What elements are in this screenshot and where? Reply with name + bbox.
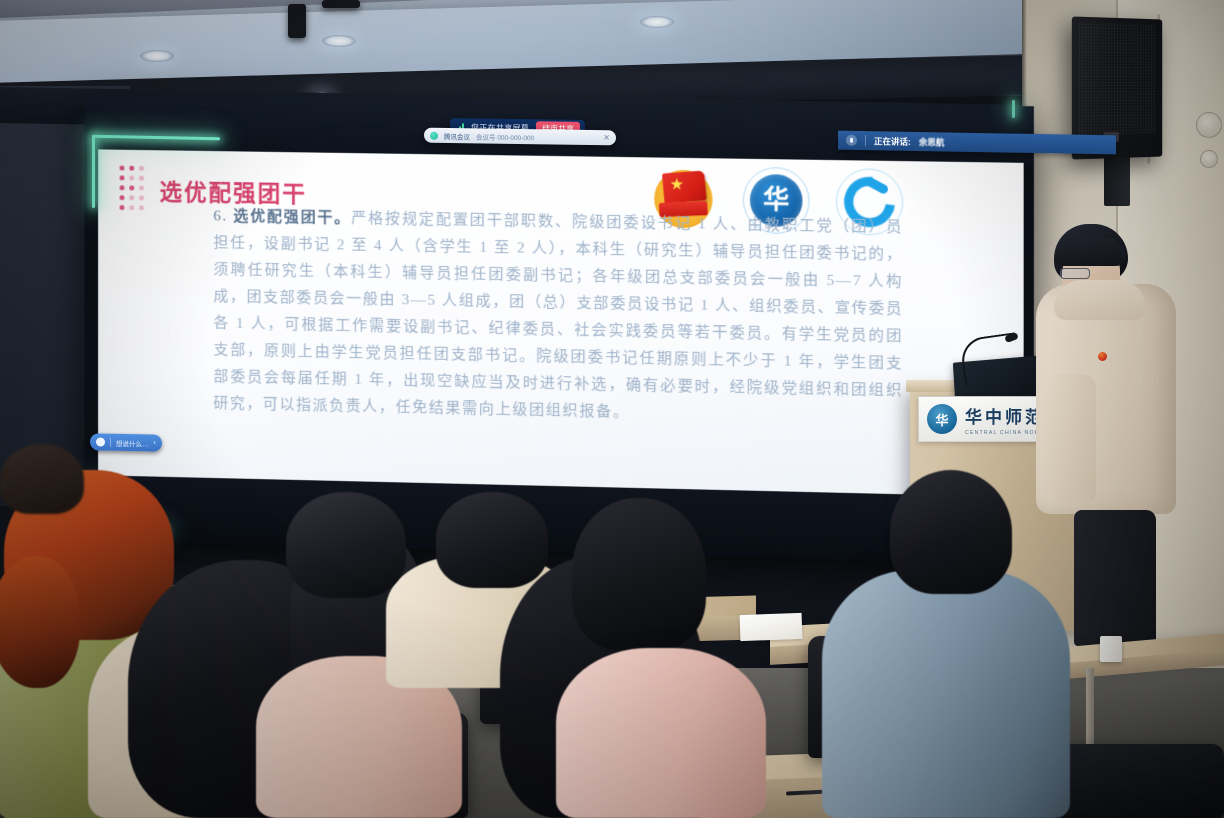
slide-body-paragraph: 严格按规定配置团干部职数、院级团委设书记 1 人、由教职工党（团）员担任，设副书… (213, 210, 903, 421)
wall-outlet-icon (1196, 112, 1222, 138)
close-icon[interactable]: ✕ (603, 134, 610, 142)
downlight-icon (322, 35, 356, 47)
meeting-id-label: 会议号 000-000-000 (476, 131, 534, 142)
university-seal-glyph: 华 (763, 187, 789, 214)
desk-leg (1086, 668, 1094, 746)
attendee-pink-top (286, 492, 406, 598)
slide-body-heading: 选优配强团干。 (233, 208, 351, 227)
projection-screen[interactable]: 选优配强团干 华 6. 选优配强团干。严格按规定配置团干部职数、院级团委设书记 … (84, 94, 1033, 564)
paper-sheet (740, 613, 803, 641)
chat-prompt-text: 想说什么… (116, 437, 149, 448)
speaker-grille (1079, 22, 1156, 135)
chair-back (1048, 744, 1224, 818)
slide-body-text: 6. 选优配强团干。严格按规定配置团干部职数、院级团委设书记 1 人、由教职工党… (213, 203, 903, 432)
presenter-hood (1054, 280, 1146, 320)
slide-body-number: 6. (213, 208, 227, 225)
presenter-legs (1074, 510, 1156, 646)
lecture-hall-photo: 选优配强团干 华 6. 选优配强团干。严格按规定配置团干部职数、院级团委设书记 … (0, 0, 1224, 818)
party-emblem-pin-icon (1098, 352, 1107, 361)
downlight-icon (140, 50, 174, 62)
attendee-orange-hair-bun (0, 556, 80, 688)
downlight-icon (640, 16, 674, 28)
microphone-icon (846, 135, 857, 146)
chat-pill-divider (110, 438, 111, 447)
dot-grid-decoration-icon (120, 166, 146, 213)
glasses-icon (1060, 268, 1090, 279)
meeting-status-dot-icon (430, 131, 438, 139)
wall-outlet-icon (1200, 150, 1218, 168)
spot-fixture-icon (288, 4, 306, 38)
led-accent-right-sliver (1012, 100, 1015, 118)
attendee-pink-top-torso (556, 648, 766, 818)
attendee-denim-jacket (890, 470, 1012, 594)
speaking-bar-divider (865, 135, 866, 146)
attendee-back-left (0, 444, 84, 514)
chevron-left-icon[interactable]: ‹ (154, 439, 156, 446)
active-speaker-name: 余思航 (919, 135, 945, 147)
presenter-fringe (1056, 238, 1126, 266)
meeting-toolbar[interactable]: 腾讯会议 会议号 000-000-000 ✕ (424, 128, 616, 146)
attendee-center (572, 498, 706, 650)
meeting-app-label: 腾讯会议 (444, 130, 470, 140)
podium-seal-icon: 华 (927, 404, 957, 434)
chat-bubble-icon (96, 437, 105, 446)
speaking-label: 正在讲话: (874, 135, 911, 148)
spot-fixture-icon (322, 0, 360, 8)
attendee-denim-jacket-torso (822, 570, 1070, 818)
led-accent-left-vertical (92, 136, 95, 208)
attendee-mid-left (436, 492, 548, 588)
cup (1100, 636, 1122, 662)
presentation-slide: 选优配强团干 华 6. 选优配强团干。严格按规定配置团干部职数、院级团委设书记 … (98, 149, 1024, 497)
presenter-sleeve (1040, 374, 1096, 502)
presenter-at-podium (1032, 224, 1182, 644)
chat-prompt-pill[interactable]: 想说什么… ‹ (90, 433, 162, 451)
